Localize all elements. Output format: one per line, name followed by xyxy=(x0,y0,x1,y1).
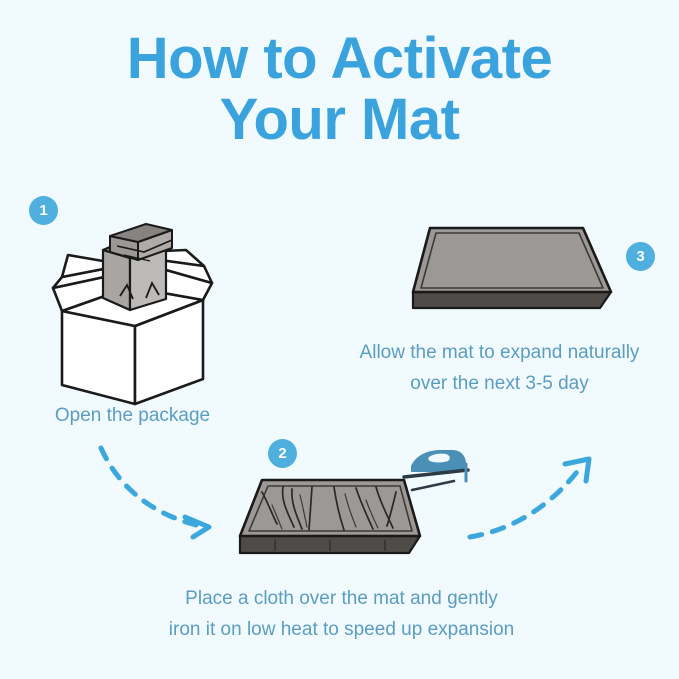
step-1-caption-line-1: Open the package xyxy=(0,400,265,431)
arrow-step1-to-step2-icon xyxy=(101,448,209,537)
iron-icon xyxy=(404,450,468,490)
step-3-caption-line-1: Allow the mat to expand naturally xyxy=(320,337,679,368)
page-title: How to Activate Your Mat xyxy=(0,28,679,151)
step-3-caption: Allow the mat to expand naturally over t… xyxy=(320,337,679,399)
step-2-caption-line-2: iron it on low heat to speed up expansio… xyxy=(78,614,605,645)
arrow-step2-to-step3-icon xyxy=(470,459,589,537)
wrinkled-mat-illustration xyxy=(240,480,420,553)
title-line-1: How to Activate xyxy=(0,28,679,89)
step-1-caption: Open the package xyxy=(0,400,265,431)
step-3-caption-line-2: over the next 3-5 day xyxy=(320,368,679,399)
open-box-illustration xyxy=(53,224,212,404)
title-line-2: Your Mat xyxy=(0,89,679,150)
step-badge-3: 3 xyxy=(626,242,655,271)
step-2-caption-line-1: Place a cloth over the mat and gently xyxy=(78,583,605,614)
step-badge-2: 2 xyxy=(268,439,297,468)
flat-mat-illustration xyxy=(413,228,611,308)
rolled-mat xyxy=(103,224,172,310)
step-badge-1: 1 xyxy=(29,196,58,225)
infographic-canvas: How to Activate Your Mat xyxy=(0,0,679,679)
step-2-caption: Place a cloth over the mat and gently ir… xyxy=(78,583,605,645)
